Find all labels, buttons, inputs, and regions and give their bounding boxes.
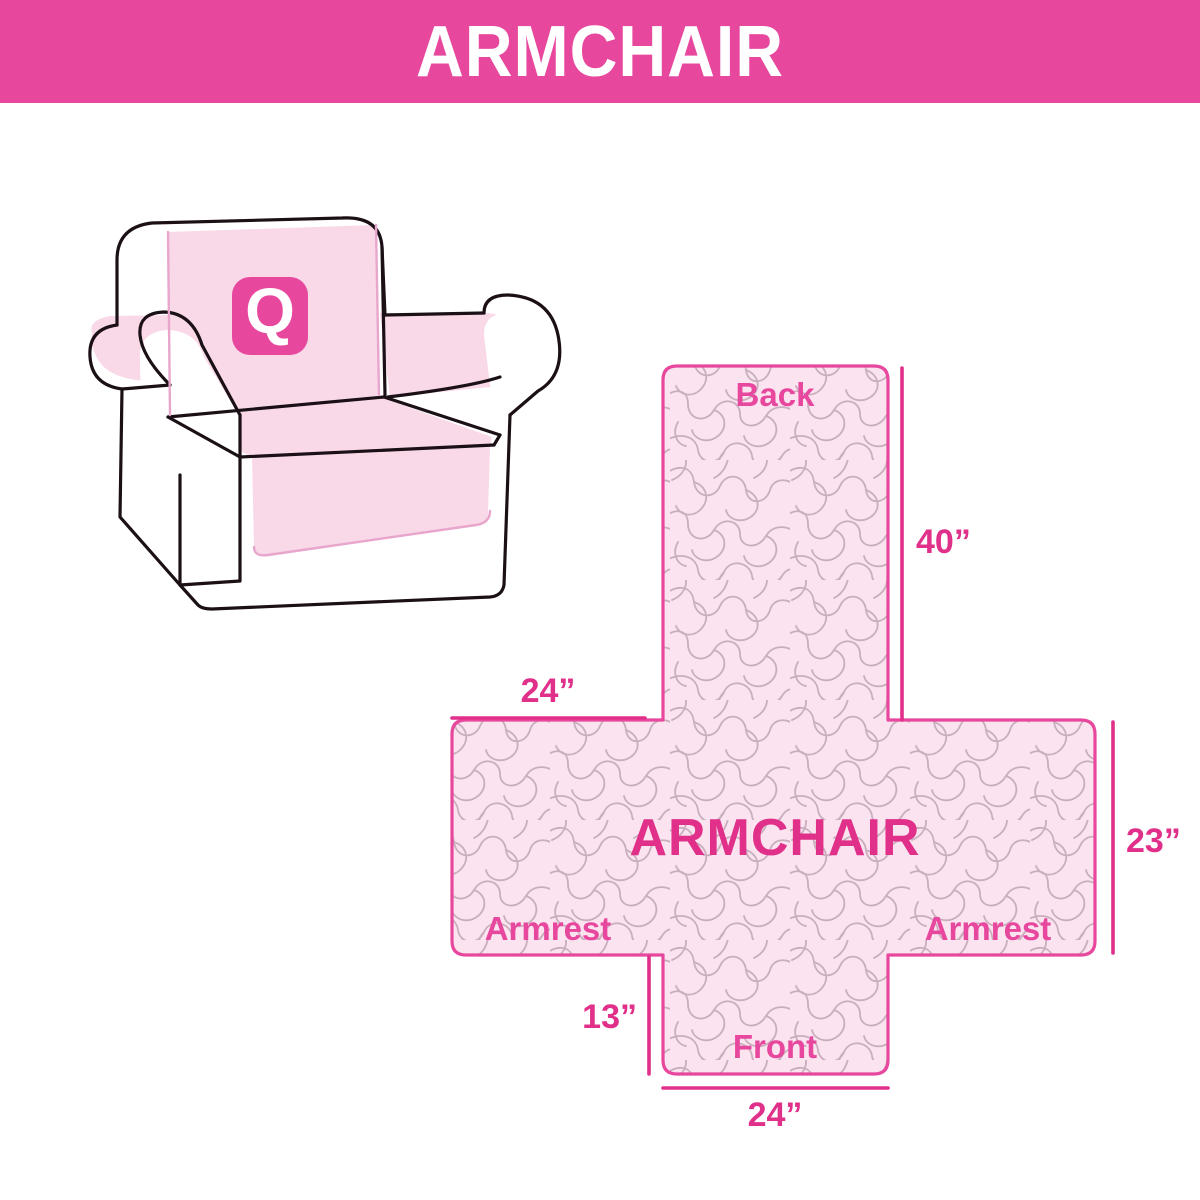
brand-logo-letter: Q	[245, 275, 295, 347]
panel-label-armrest-left: Armrest	[485, 910, 612, 947]
cover-center-label: ARMCHAIR	[629, 809, 920, 867]
dimension-value-13: 13”	[582, 998, 637, 1036]
chair-right-arm-top-outline	[385, 313, 484, 315]
brand-logo-badge: Q	[232, 275, 308, 355]
dimension-value-23: 23”	[1126, 822, 1181, 860]
chair-left-body-front	[180, 477, 240, 585]
dimension-value-24-top: 24”	[521, 672, 576, 710]
header-banner: ARMCHAIR	[0, 0, 1200, 103]
dimension-value-24-bottom: 24”	[748, 1096, 803, 1134]
dimension-front-height: 13”	[582, 957, 649, 1074]
panel-label-armrest-right: Armrest	[925, 910, 1052, 947]
page-title: ARMCHAIR	[416, 16, 784, 88]
dimension-seat-depth: 23”	[1113, 722, 1181, 953]
panel-label-back: Back	[736, 376, 816, 413]
dimension-back-height: 40”	[902, 368, 971, 720]
cover-cross-shape	[452, 366, 1095, 1074]
dimension-armrest-width: 24”	[452, 672, 645, 718]
cover-shape-diagram: Back Armrest Armrest Front ARMCHAIR 40” …	[430, 340, 1190, 1140]
panel-label-front: Front	[733, 1028, 817, 1065]
dimension-value-40: 40”	[916, 523, 971, 561]
dimension-front-width: 24”	[663, 1088, 888, 1134]
